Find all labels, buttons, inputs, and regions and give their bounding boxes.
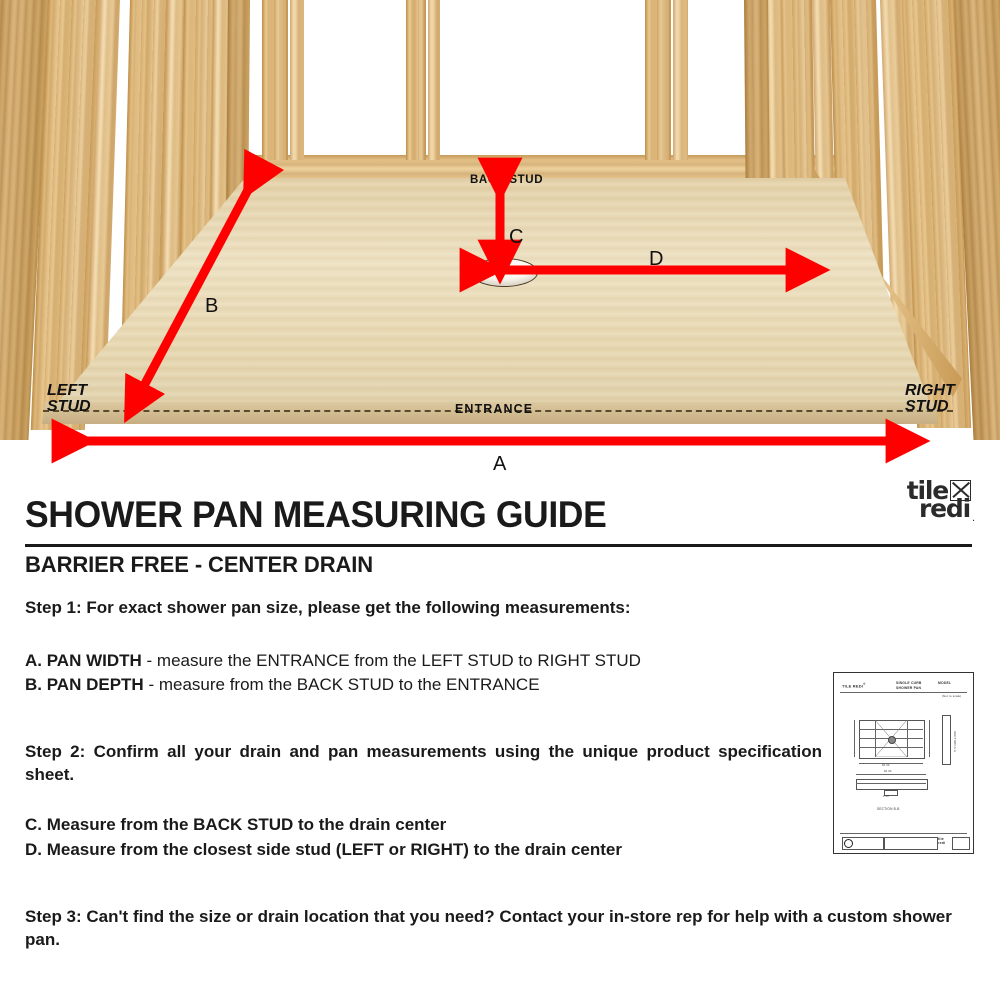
spec-section-label-a: SECTION A-A: [953, 731, 957, 752]
step-2-text: Step 2: Confirm all your drain and pan m…: [25, 741, 822, 787]
spec-logo-line-redi: redi: [938, 842, 945, 846]
back-wall-stud: [290, 0, 304, 160]
logo-line-redi: redi: [919, 498, 970, 519]
item-a-key: A.: [25, 651, 42, 670]
spec-sheet-thumbnail: TILE REDI® SINGLE CURB SHOWER PAN MODEL …: [833, 672, 974, 854]
spec-section-bottom: [856, 779, 928, 790]
label-left-stud-line1: LEFT STUD: [47, 383, 91, 416]
label-right-stud-line1: RIGHT STUD: [905, 383, 955, 416]
measurement-item-b: B. PAN DEPTH - measure from the BACK STU…: [25, 675, 540, 695]
spec-product-line-1: SINGLE CURB: [896, 681, 922, 685]
spec-header-divider: [840, 692, 967, 693]
label-right-stud: RIGHT STUD: [905, 383, 955, 416]
logo-registered-mark: .: [972, 512, 975, 524]
item-b-description: - measure from the BACK STUD to the ENTR…: [144, 675, 540, 694]
item-a-term: PAN WIDTH: [47, 651, 142, 670]
spec-titleblock-divider: [840, 833, 967, 834]
spec-product-line-2: SHOWER PAN: [896, 686, 921, 690]
page-subtitle: BARRIER FREE - CENTER DRAIN: [25, 552, 373, 578]
item-b-key: B.: [25, 675, 42, 694]
back-wall-stud: [406, 0, 426, 160]
spec-plan-width-dim: [859, 763, 923, 764]
label-left-stud: LEFT STUD: [47, 383, 91, 416]
measurement-item-d: D. Measure from the closest side stud (L…: [25, 840, 622, 860]
framing-photo: BACK STUD LEFT STUD RIGHT STUD ENTRANCE …: [0, 0, 1000, 478]
spec-section-elevation: [942, 715, 951, 765]
item-b-term: PAN DEPTH: [47, 675, 144, 694]
drain-opening: [470, 258, 538, 287]
certification-logo-icon: [844, 839, 853, 848]
spec-drain-symbol: [888, 736, 896, 744]
spec-brand: TILE REDI®: [842, 682, 866, 688]
dimension-label-a: A: [493, 453, 507, 475]
spec-scale-note: (Not to scale): [942, 694, 961, 698]
spec-model-label: MODEL: [938, 681, 951, 685]
measurement-item-a: A. PAN WIDTH - measure the ENTRANCE from…: [25, 651, 641, 671]
item-a-description: - measure the ENTRANCE from the LEFT STU…: [142, 651, 641, 670]
step-1-text: Step 1: For exact shower pan size, pleas…: [25, 598, 631, 618]
back-wall-stud: [262, 0, 288, 160]
spec-dim-text: 60.00: [884, 770, 892, 773]
step-3-text: Step 3: Can't find the size or drain loc…: [25, 906, 972, 952]
spec-plan-depth-dim: [854, 720, 855, 757]
tile-redi-logo: tile redi .: [855, 472, 975, 538]
spec-notes-box: [884, 837, 938, 850]
label-entrance: ENTRANCE: [455, 402, 533, 416]
label-back-stud: BACK STUD: [470, 174, 543, 186]
measurement-item-c: C. Measure from the BACK STUD to the dra…: [25, 815, 446, 835]
spec-dim-text: 60.00: [882, 764, 890, 767]
back-wall-stud: [428, 0, 440, 160]
spec-dim-text: 2.00: [883, 795, 889, 798]
spec-section-dim: [856, 774, 926, 775]
spec-section-label-b: SECTION B-B: [877, 807, 900, 811]
spec-rev-box: [952, 837, 970, 850]
title-divider: [25, 544, 972, 547]
back-wall-stud: [645, 0, 671, 160]
guide-content: tile redi . SHOWER PAN MEASURING GUIDE B…: [0, 478, 1000, 1000]
back-wall-stud: [673, 0, 688, 160]
page-title: SHOWER PAN MEASURING GUIDE: [25, 496, 606, 533]
